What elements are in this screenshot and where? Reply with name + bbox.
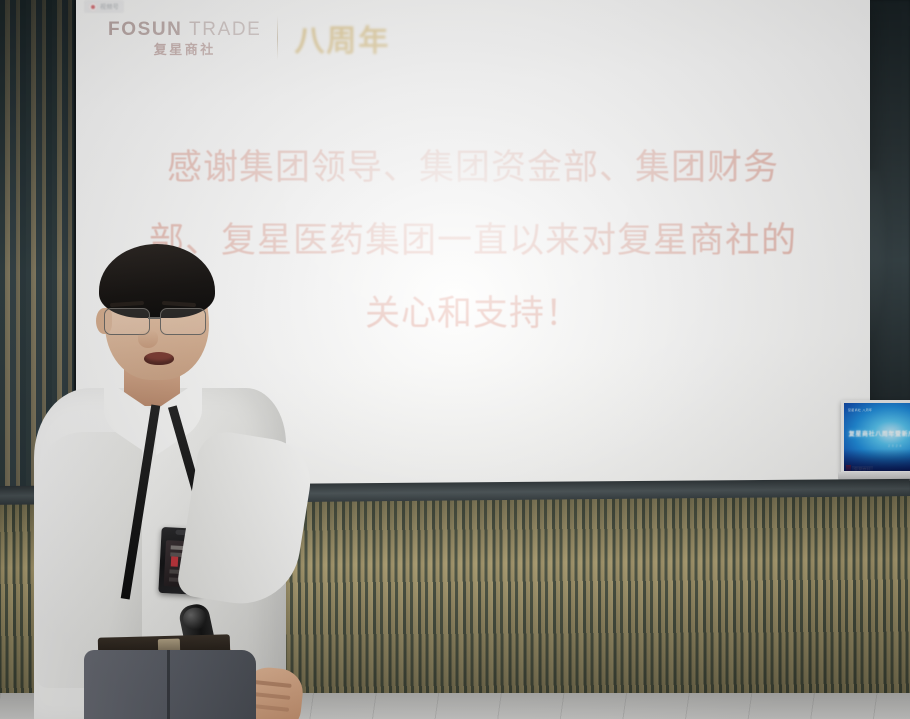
eyeglass-bridge bbox=[148, 317, 160, 319]
fosun-red-mark-icon bbox=[846, 465, 851, 471]
record-dot-icon bbox=[89, 3, 97, 11]
speaker-figure bbox=[20, 236, 320, 719]
preview-badge: 复星商社 bbox=[846, 465, 873, 471]
eyeglass-lens-right bbox=[160, 308, 206, 335]
slide-watermark: 视频号 bbox=[84, 0, 124, 13]
preview-monitor-frame: 复星商社 八周年 复星商社八周年暨新产李发布会 2 0 2 4 复星商社 bbox=[841, 400, 910, 474]
slide-watermark-label: 视频号 bbox=[100, 2, 119, 11]
anniversary-mark: 八周年 bbox=[294, 16, 390, 60]
slide-line: 感谢集团领导、集团资金部、集团财务 bbox=[116, 150, 830, 185]
preview-monitor-screen: 复星商社 八周年 复星商社八周年暨新产李发布会 2 0 2 4 复星商社 bbox=[844, 403, 910, 471]
logo-english-bold: FOSUN bbox=[108, 19, 183, 40]
preview-badge-label: 复星商社 bbox=[852, 466, 873, 472]
logo-english-light: TRADE bbox=[183, 19, 262, 40]
speaker-mouth bbox=[144, 352, 174, 365]
speaker-nose bbox=[138, 330, 158, 348]
fosun-trade-logo: FOSUN TRADE 复星商社 bbox=[108, 20, 261, 56]
eyeglasses-icon bbox=[104, 308, 212, 334]
logo-english: FOSUN TRADE bbox=[108, 20, 261, 39]
presentation-photo-scene: 视频号 FOSUN TRADE 复星商社 八周年 感谢集团领导、集团资金部、集团… bbox=[0, 0, 910, 719]
logo-divider bbox=[277, 16, 278, 60]
preview-slide-title: 复星商社八周年暨新产李发布会 bbox=[844, 429, 910, 438]
preview-monitor: 复星商社 八周年 复星商社八周年暨新产李发布会 2 0 2 4 复星商社 bbox=[841, 400, 910, 482]
preview-slide-subtitle: 2 0 2 4 bbox=[844, 444, 910, 448]
logo-chinese: 复星商社 bbox=[154, 43, 216, 56]
slide-logo-lockup: FOSUN TRADE 复星商社 八周年 bbox=[108, 16, 390, 60]
speaker-right-arm bbox=[176, 428, 317, 612]
preview-corner-text: 复星商社 八周年 bbox=[848, 408, 872, 413]
id-badge-logo-icon bbox=[171, 556, 179, 566]
speaker-hair bbox=[99, 244, 215, 318]
speaker-trousers bbox=[84, 650, 256, 719]
